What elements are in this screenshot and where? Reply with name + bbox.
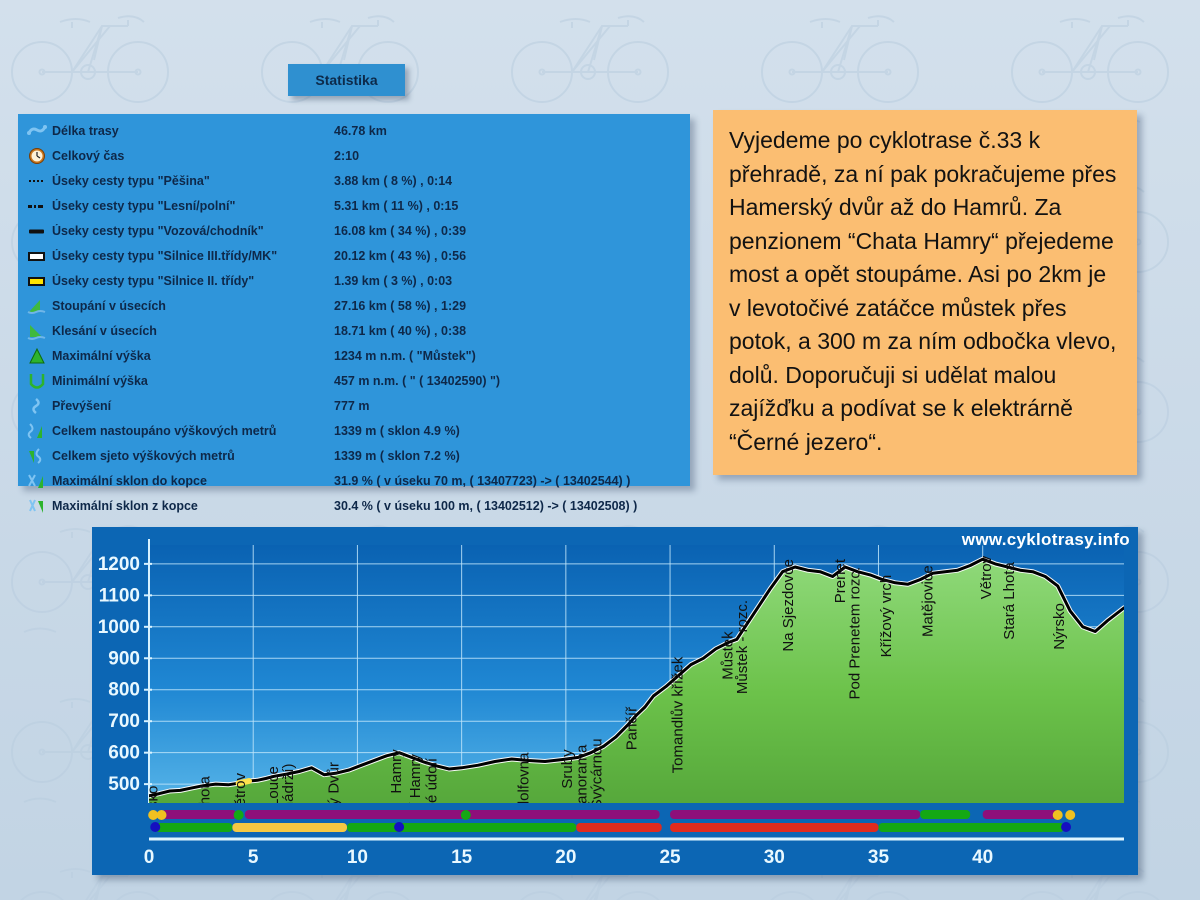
svg-text:5: 5	[248, 847, 259, 868]
ascent-segments-icon	[26, 297, 48, 315]
statistics-row-value: 3.88 km ( 8 %) , 0:14	[334, 174, 452, 188]
statistics-row: Maximální sklon do kopce31.9 % ( v úseku…	[18, 468, 690, 493]
statistics-row: Celkem sjeto výškových metrů1339 m ( skl…	[18, 443, 690, 468]
statistics-row-value: 457 m n.m. ( " ( 13402590) ")	[334, 374, 500, 388]
statistics-row: Převýšení777 m	[18, 393, 690, 418]
statistics-row: Minimální výška457 m n.m. ( " ( 13402590…	[18, 368, 690, 393]
statistics-row-label: Úseky cesty typu "Silnice III.třídy/MK"	[52, 249, 334, 263]
svg-text:15: 15	[451, 847, 473, 868]
statistics-row-value: 777 m	[334, 399, 369, 413]
svg-text:Křížový vrch: Křížový vrch	[878, 575, 895, 658]
svg-text:Můstek - rozc.: Můstek - rozc.	[734, 600, 751, 694]
svg-text:Stará Lhota: Stará Lhota	[1001, 562, 1018, 640]
svg-text:20: 20	[555, 847, 576, 868]
statistika-title-tab: Statistika	[288, 64, 405, 96]
statistics-row-label: Celkem sjeto výškových metrů	[52, 449, 334, 463]
statistics-row-value: 5.31 km ( 11 %) , 0:15	[334, 199, 458, 213]
statistics-row-label: Úseky cesty typu "Lesní/polní"	[52, 199, 334, 213]
dotted-line-icon	[26, 172, 48, 190]
clock-icon	[26, 147, 48, 165]
statistics-row: Úseky cesty typu "Silnice II. třídy"1.39…	[18, 268, 690, 293]
route-length-icon	[26, 122, 48, 140]
statistics-row-label: Maximální sklon z kopce	[52, 499, 334, 513]
chart-svg: 500600700800900100011001200 051015202530…	[92, 527, 1138, 875]
svg-text:Tomandlův křížek: Tomandlův křížek	[670, 656, 687, 773]
statistics-row-value: 18.71 km ( 40 %) , 0:38	[334, 324, 466, 338]
svg-text:Hamry: Hamry	[388, 749, 405, 794]
description-text: Vyjedeme po cyklotrase č.33 k přehradě, …	[729, 124, 1123, 459]
svg-text:800: 800	[108, 680, 140, 701]
svg-text:900: 900	[108, 648, 140, 669]
statistics-row-label: Maximální sklon do kopce	[52, 474, 334, 488]
statistics-row-label: Úseky cesty typu "Vozová/chodník"	[52, 224, 334, 238]
descent-segments-icon	[26, 322, 48, 340]
svg-text:500: 500	[108, 774, 140, 795]
statistics-row-value: 1234 m n.m. ( "Můstek")	[334, 349, 476, 363]
statistics-row-label: Úseky cesty typu "Pěšina"	[52, 174, 334, 188]
page-title: Statistika	[315, 72, 377, 88]
statistics-row-value: 1339 m ( sklon 4.9 %)	[334, 424, 460, 438]
solid-black-line-icon	[26, 222, 48, 240]
max-altitude-icon	[26, 347, 48, 365]
statistics-row-value: 27.16 km ( 58 %) , 1:29	[334, 299, 466, 313]
statistics-row: Klesání v úsecích18.71 km ( 40 %) , 0:38	[18, 318, 690, 343]
statistics-row-label: Stoupání v úsecích	[52, 299, 334, 313]
statistics-panel: Délka trasy46.78 kmCelkový čas2:10Úseky …	[18, 114, 690, 486]
svg-text:10: 10	[347, 847, 368, 868]
statistics-row: Úseky cesty typu "Lesní/polní"5.31 km ( …	[18, 193, 690, 218]
statistics-row-value: 16.08 km ( 34 %) , 0:39	[334, 224, 466, 238]
svg-text:Větrov: Větrov	[978, 555, 995, 599]
statistics-row-value: 20.12 km ( 43 %) , 0:56	[334, 249, 466, 263]
svg-text:Matějovice: Matějovice	[920, 565, 937, 637]
svg-text:40: 40	[972, 847, 993, 868]
max-downhill-grade-icon	[26, 497, 48, 515]
dash-dot-line-icon	[26, 197, 48, 215]
chart-watermark: www.cyklotrasy.info	[962, 530, 1130, 550]
statistics-row: Maximální výška1234 m n.m. ( "Můstek")	[18, 343, 690, 368]
yellow-road-line-icon	[26, 272, 48, 290]
statistics-row-label: Úseky cesty typu "Silnice II. třídy"	[52, 274, 334, 288]
statistics-row-label: Celkový čas	[52, 149, 334, 163]
statistics-row-label: Délka trasy	[52, 124, 334, 138]
statistics-row-value: 1.39 km ( 3 %) , 0:03	[334, 274, 452, 288]
white-road-line-icon	[26, 247, 48, 265]
min-altitude-icon	[26, 372, 48, 390]
svg-text:Na Sjezdovce: Na Sjezdovce	[780, 559, 797, 652]
statistics-row: Maximální sklon z kopce30.4 % ( v úseku …	[18, 493, 690, 518]
statistics-row: Stoupání v úsecích27.16 km ( 58 %) , 1:2…	[18, 293, 690, 318]
svg-text:25: 25	[659, 847, 681, 868]
svg-text:1200: 1200	[98, 554, 140, 575]
chart-route-bars	[148, 809, 1124, 839]
statistics-row-label: Převýšení	[52, 399, 334, 413]
statistics-row: Úseky cesty typu "Vozová/chodník"16.08 k…	[18, 218, 690, 243]
svg-text:0: 0	[144, 847, 155, 868]
statistics-row: Úseky cesty typu "Pěšina"3.88 km ( 8 %) …	[18, 168, 690, 193]
svg-text:1000: 1000	[98, 617, 140, 638]
statistics-row: Celkový čas2:10	[18, 143, 690, 168]
svg-text:Pod Prenetem rozc.: Pod Prenetem rozc.	[847, 567, 864, 700]
statistics-row-value: 31.9 % ( v úseku 70 m, ( 13407723) -> ( …	[334, 474, 630, 488]
total-climb-icon	[26, 422, 48, 440]
statistics-row-label: Minimální výška	[52, 374, 334, 388]
statistics-row-value: 46.78 km	[334, 124, 387, 138]
statistics-row-label: Celkem nastoupáno výškových metrů	[52, 424, 334, 438]
max-uphill-grade-icon	[26, 472, 48, 490]
svg-text:30: 30	[764, 847, 785, 868]
svg-text:1100: 1100	[99, 585, 140, 606]
statistics-row: Úseky cesty typu "Silnice III.třídy/MK"2…	[18, 243, 690, 268]
statistics-row-value: 2:10	[334, 149, 359, 163]
svg-text:700: 700	[108, 711, 140, 732]
elevation-gain-icon	[26, 397, 48, 415]
statistics-row-value: 30.4 % ( v úseku 100 m, ( 13402512) -> (…	[334, 499, 637, 513]
statistics-row: Celkem nastoupáno výškových metrů1339 m …	[18, 418, 690, 443]
svg-text:Nýrsko: Nýrsko	[1051, 603, 1068, 650]
total-descend-icon	[26, 447, 48, 465]
description-box: Vyjedeme po cyklotrase č.33 k přehradě, …	[713, 110, 1137, 475]
statistics-row-label: Maximální výška	[52, 349, 334, 363]
statistics-row-label: Klesání v úsecích	[52, 324, 334, 338]
statistics-row-value: 1339 m ( sklon 7.2 %)	[334, 449, 460, 463]
elevation-profile-chart: www.cyklotrasy.info 50060070080090010001…	[92, 527, 1138, 875]
svg-text:600: 600	[108, 743, 140, 764]
statistics-row: Délka trasy46.78 km	[18, 118, 690, 143]
svg-text:35: 35	[868, 847, 890, 868]
svg-text:Pančíř: Pančíř	[624, 706, 641, 750]
